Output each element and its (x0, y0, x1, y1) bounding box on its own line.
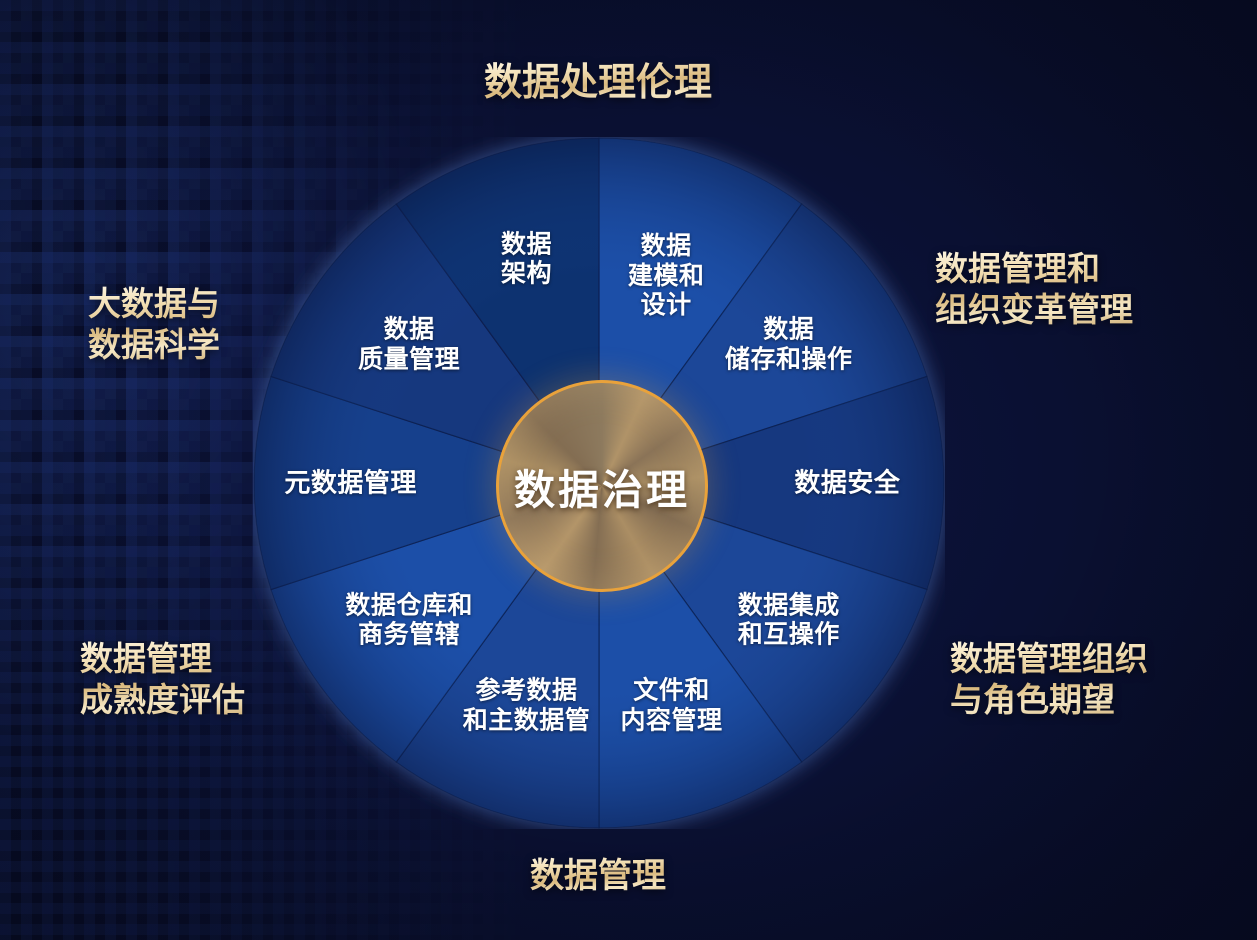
outer-label-data-maturity-assessment: 数据管理 成熟度评估 (80, 638, 245, 721)
wheel-hub: 数据治理 (496, 380, 708, 592)
data-governance-wheel: 数据 建模和 设计数据 储存和操作数据安全数据集成 和互操作文件和 内容管理参考… (253, 137, 945, 829)
outer-label-data-management: 数据管理 (530, 855, 666, 898)
hub-label: 数据治理 (514, 456, 690, 516)
outer-label-big-data-data-science: 大数据与 数据科学 (88, 283, 220, 366)
outer-label-data-mgmt-org-change: 数据管理和 组织变革管理 (935, 248, 1133, 331)
outer-label-data-mgmt-org-roles: 数据管理组织 与角色期望 (950, 638, 1148, 721)
diagram-canvas: 数据处理伦理 数据管理和 组织变革管理 数据管理组织 与角色期望 大数据与 数据… (0, 0, 1257, 940)
outer-label-data-ethics: 数据处理伦理 (484, 60, 712, 108)
